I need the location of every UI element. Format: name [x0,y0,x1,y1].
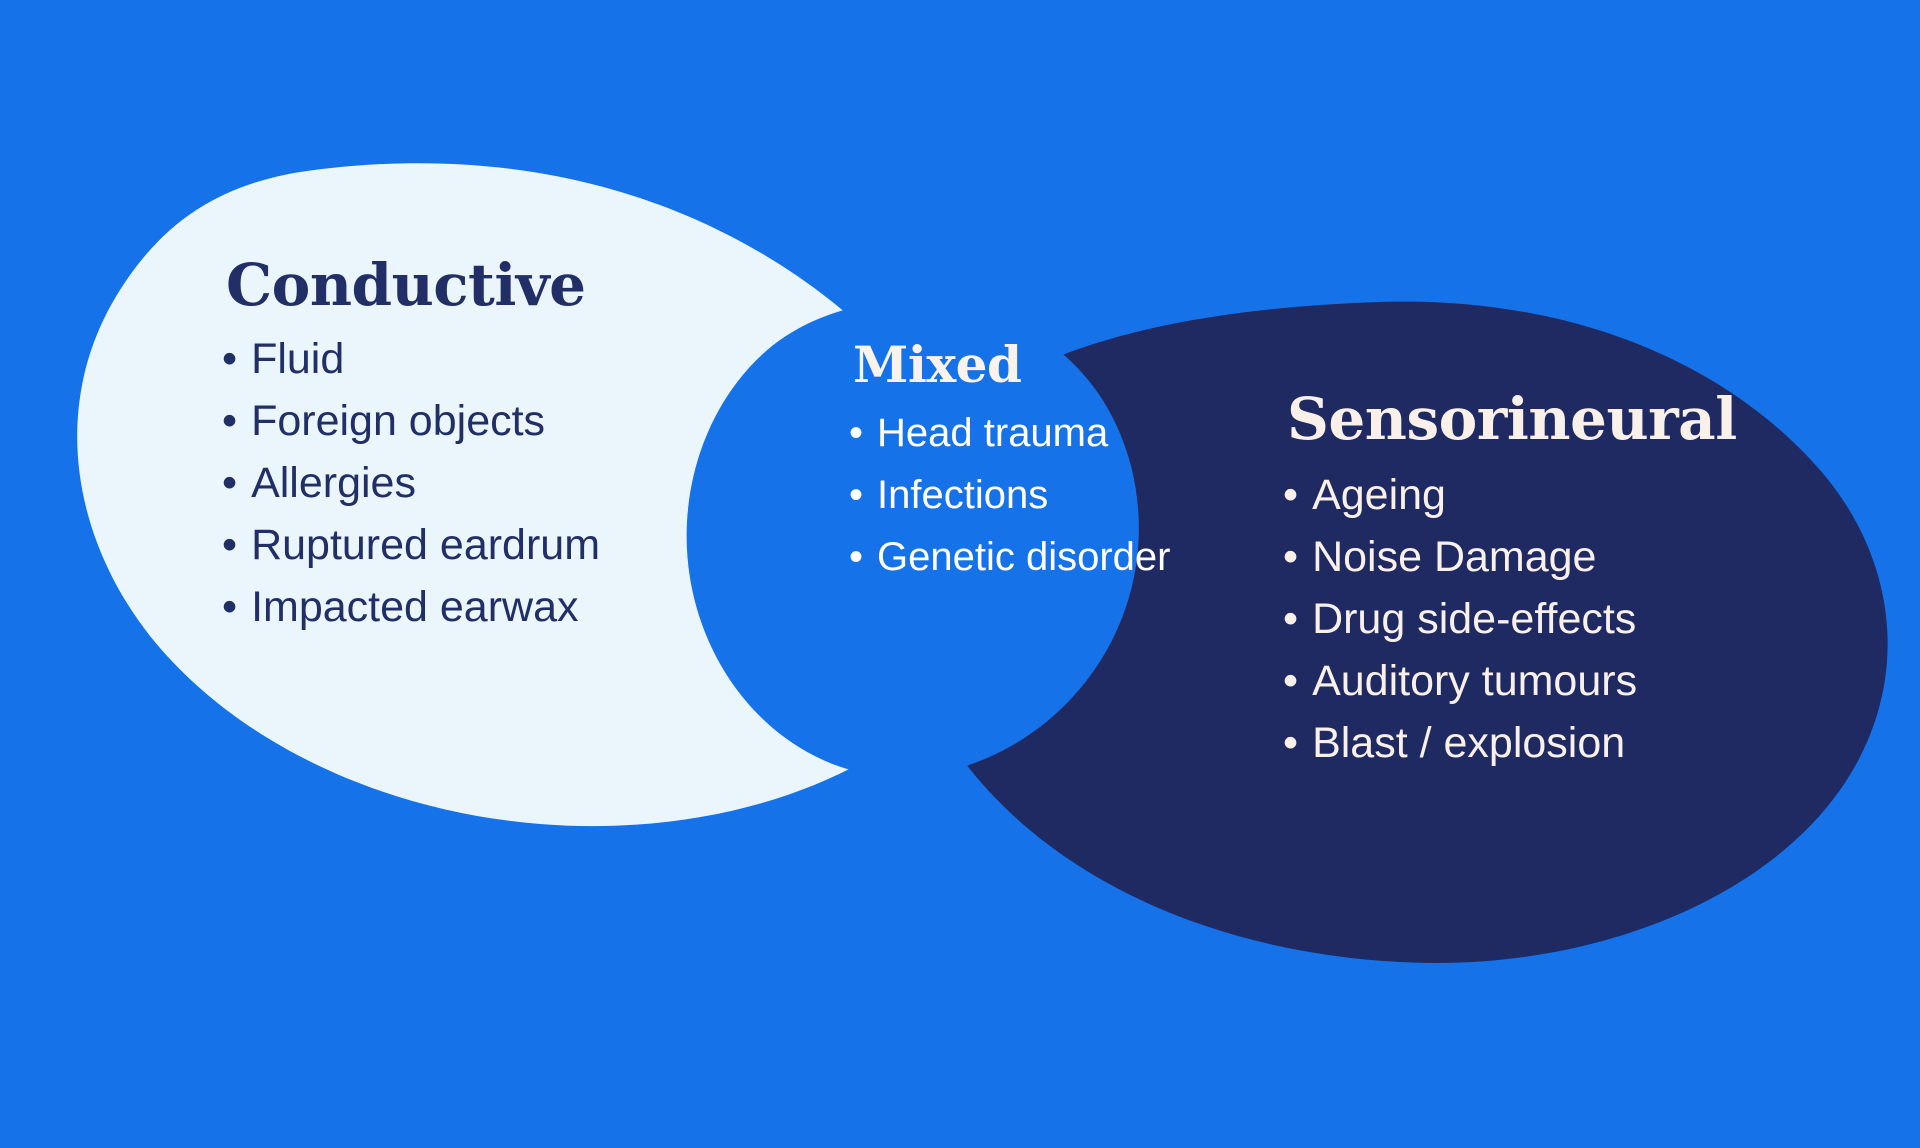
group-sensorineural: Sensorineural • Ageing • Noise Damage • … [1283,390,1803,774]
list-item-label: Foreign objects [251,390,692,452]
list-item: • Auditory tumours [1283,650,1803,712]
sensorineural-bullet-list: • Ageing • Noise Damage • Drug side-effe… [1283,464,1803,774]
bullet-icon: • [1283,464,1298,526]
bullet-icon: • [849,464,863,526]
conductive-bullet-list: • Fluid • Foreign objects • Allergies • … [222,328,692,638]
bullet-icon: • [849,526,863,588]
conductive-heading: Conductive [226,256,692,314]
bullet-icon: • [1283,650,1298,712]
group-mixed: Mixed • Head trauma • Infections • Genet… [849,340,1179,588]
list-item: • Allergies [222,452,692,514]
list-item-label: Drug side-effects [1312,588,1803,650]
bullet-icon: • [222,576,237,638]
list-item: • Infections [849,464,1179,526]
bullet-icon: • [222,328,237,390]
list-item-label: Infections [877,464,1179,526]
bullet-icon: • [1283,712,1298,774]
list-item: • Ageing [1283,464,1803,526]
list-item-label: Ageing [1312,464,1803,526]
bullet-icon: • [222,514,237,576]
venn-diagram-canvas: Conductive • Fluid • Foreign objects • A… [0,0,1920,1148]
mixed-heading: Mixed [853,340,1179,390]
list-item-label: Allergies [251,452,692,514]
list-item-label: Ruptured eardrum [251,514,692,576]
mixed-bullet-list: • Head trauma • Infections • Genetic dis… [849,402,1179,588]
list-item-label: Genetic disorder [877,526,1179,588]
list-item: • Foreign objects [222,390,692,452]
list-item: • Ruptured eardrum [222,514,692,576]
list-item-label: Noise Damage [1312,526,1803,588]
list-item: • Head trauma [849,402,1179,464]
group-conductive: Conductive • Fluid • Foreign objects • A… [222,256,692,638]
list-item-label: Head trauma [877,402,1179,464]
list-item: • Fluid [222,328,692,390]
bullet-icon: • [222,390,237,452]
bullet-icon: • [1283,588,1298,650]
list-item-label: Auditory tumours [1312,650,1803,712]
list-item: • Genetic disorder [849,526,1179,588]
sensorineural-heading: Sensorineural [1287,390,1803,448]
bullet-icon: • [849,402,863,464]
list-item-label: Fluid [251,328,692,390]
bullet-icon: • [1283,526,1298,588]
list-item: • Drug side-effects [1283,588,1803,650]
list-item: • Noise Damage [1283,526,1803,588]
bullet-icon: • [222,452,237,514]
list-item-label: Impacted earwax [251,576,692,638]
list-item: • Impacted earwax [222,576,692,638]
list-item-label: Blast / explosion [1312,712,1803,774]
list-item: • Blast / explosion [1283,712,1803,774]
